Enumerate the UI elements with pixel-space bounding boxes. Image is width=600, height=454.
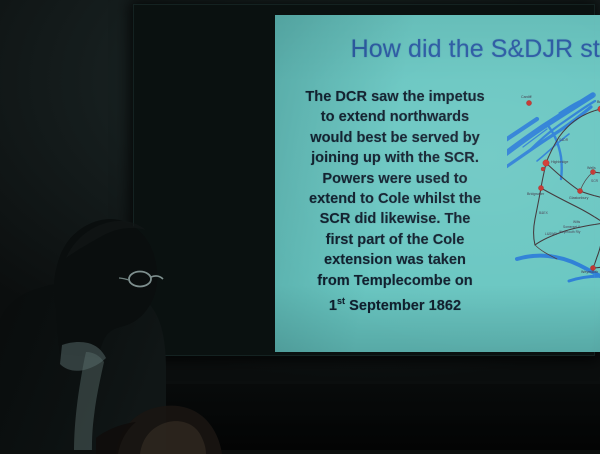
body-line: The DCR saw the impetus xyxy=(289,87,501,107)
svg-text:Bridgwater: Bridgwater xyxy=(527,192,545,196)
projection-screen-frame: How did the S&DJR start? The DCR saw the… xyxy=(133,4,595,356)
svg-text:SCR: SCR xyxy=(591,179,599,183)
body-line: first part of the Cole xyxy=(289,230,501,250)
svg-text:Wells: Wells xyxy=(587,166,596,170)
body-line: from Templecombe on xyxy=(289,271,501,291)
body-line: would best be served by xyxy=(289,128,501,148)
railway-map-image: .lbl{font-family:"Liberation Sans",sans-… xyxy=(507,83,600,318)
dark-room-background: How did the S&DJR start? The DCR saw the… xyxy=(0,0,600,450)
body-line-date: 1st September 1862 xyxy=(289,291,501,316)
svg-text:Wilts: Wilts xyxy=(573,220,580,224)
svg-text:Glastonbury: Glastonbury xyxy=(569,196,589,200)
svg-text:Highbridge: Highbridge xyxy=(551,160,568,164)
body-line: SCR did likewise. The xyxy=(289,209,501,229)
svg-text:Weymouth Rly: Weymouth Rly xyxy=(559,230,581,234)
slide-title: How did the S&DJR start? xyxy=(275,35,600,64)
date-ordinal: st xyxy=(337,296,345,306)
svg-text:Somerset &: Somerset & xyxy=(563,225,581,229)
svg-text:Weymouth: Weymouth xyxy=(581,270,598,274)
presentation-slide: How did the S&DJR start? The DCR saw the… xyxy=(275,15,600,352)
body-line: Powers were used to xyxy=(289,169,501,189)
svg-text:S&DR: S&DR xyxy=(559,138,569,142)
svg-text:B&EX: B&EX xyxy=(539,211,549,215)
date-rest: September 1862 xyxy=(345,298,461,314)
slide-body-text: The DCR saw the impetus to extend northw… xyxy=(289,87,501,316)
body-line: to extend northwards xyxy=(289,107,501,127)
room-floor-shadow xyxy=(0,384,600,450)
body-line: extend to Cole whilst the xyxy=(289,189,501,209)
body-line: joining up with the SCR. xyxy=(289,148,501,168)
audience-head-silhouette xyxy=(96,384,276,454)
svg-text:Cardiff: Cardiff xyxy=(521,95,532,99)
date-day: 1 xyxy=(329,298,337,314)
body-line: extension was taken xyxy=(289,250,501,270)
svg-text:L&SWR: L&SWR xyxy=(545,232,557,236)
